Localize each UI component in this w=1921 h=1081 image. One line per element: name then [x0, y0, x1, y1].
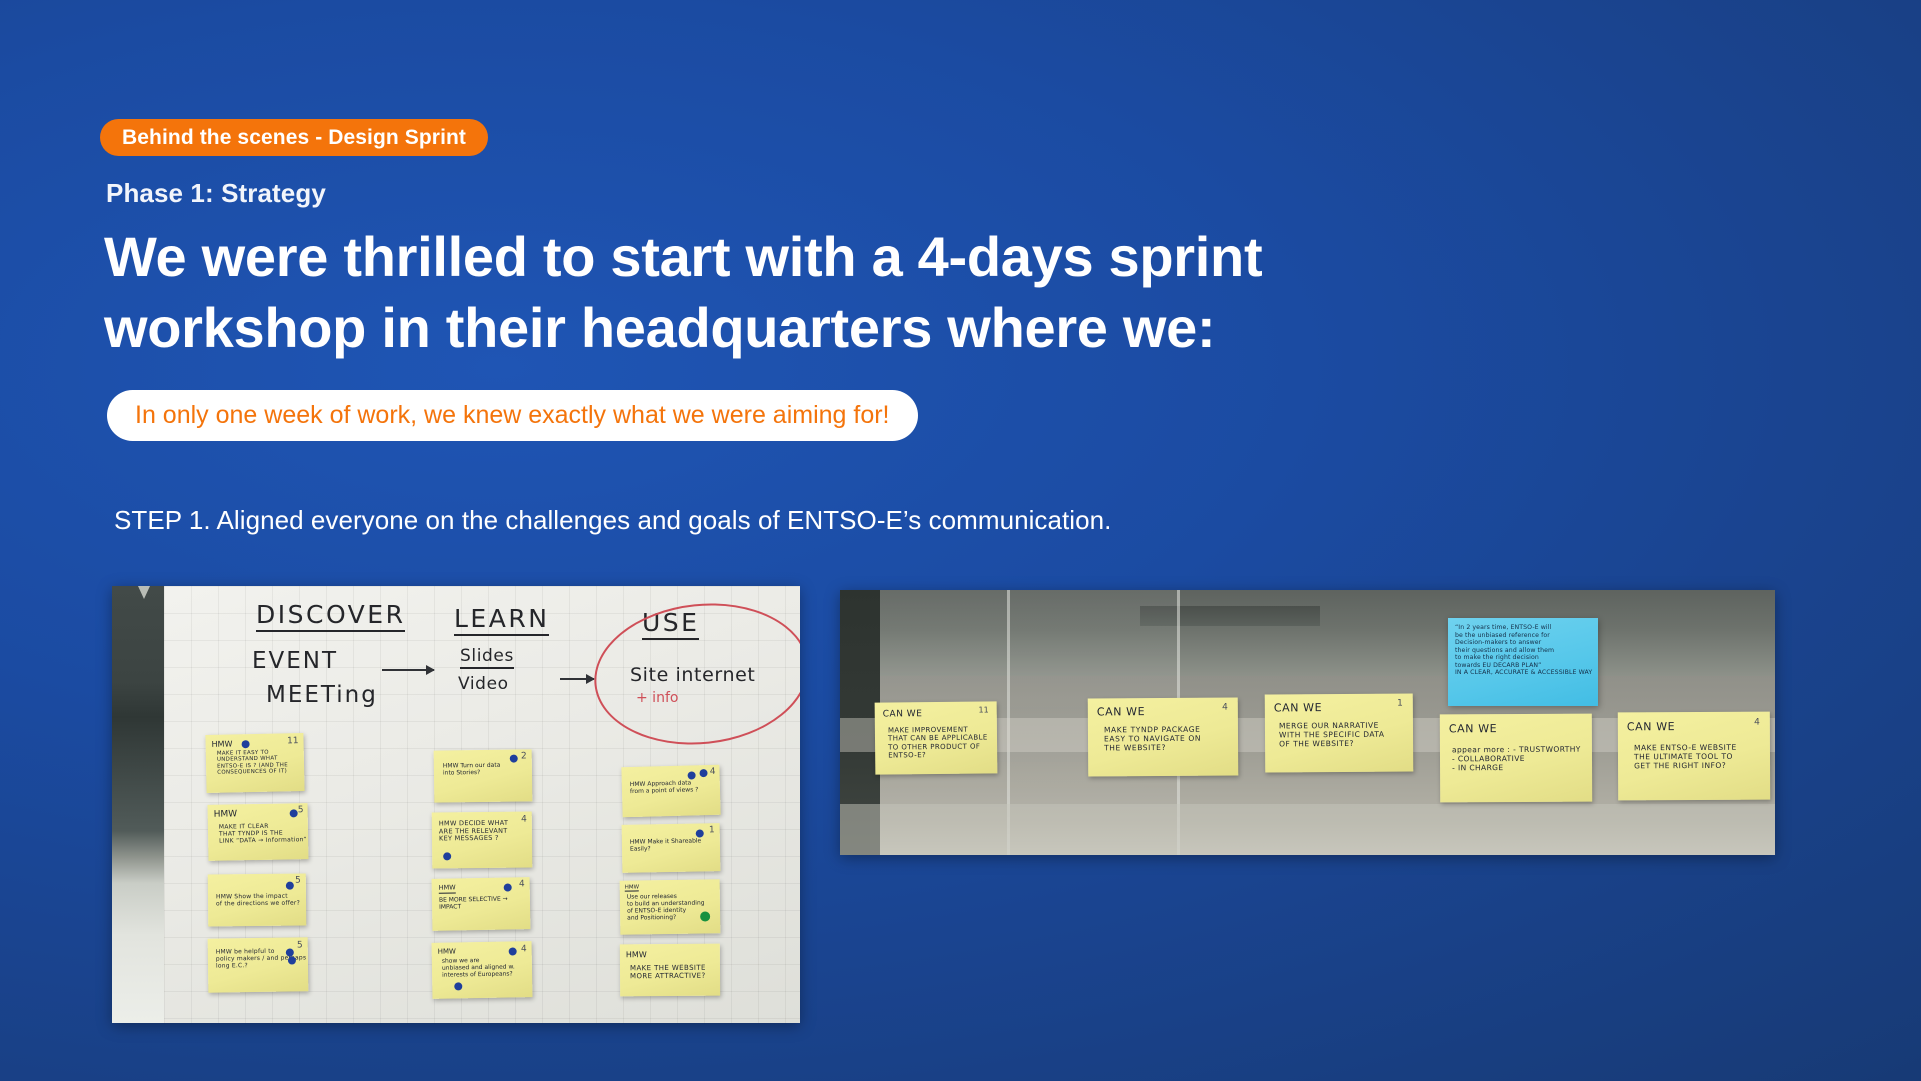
vote-dot [510, 755, 518, 763]
sticky-prefix: CAN WE [1097, 706, 1145, 719]
sticky-note: CAN WE MERGE OUR NARRATIVE WITH THE SPEC… [1265, 693, 1414, 772]
sticky-note: HMW Use our releases to build an underst… [620, 879, 721, 934]
sticky-tick: 4 [521, 944, 527, 954]
sticky-note-blue-vision: “In 2 years time, ENTSO-E will be the un… [1448, 618, 1598, 706]
behind-the-scenes-badge: Behind the scenes - Design Sprint [100, 119, 488, 156]
sticky-tick: 4 [1754, 718, 1760, 728]
vote-dot [242, 740, 250, 748]
sticky-tick: 11 [978, 705, 988, 714]
page-title: We were thrilled to start with a 4-days … [104, 222, 1404, 363]
sticky-note: HMW Show the impact of the directions we… [208, 873, 307, 926]
sticky-prefix: HMW [625, 884, 639, 892]
board-label-slides: Slides [460, 646, 514, 669]
sticky-tick: 4 [521, 815, 527, 825]
whiteboard-surface: DISCOVER LEARN USE EVENT MEETing Slides … [164, 586, 800, 1023]
vote-dot [687, 771, 695, 779]
vote-dot [286, 948, 294, 956]
sticky-body: MAKE TYNDP PACKAGE EASY TO NAVIGATE ON T… [1104, 726, 1201, 753]
sticky-body: “In 2 years time, ENTSO-E will be the un… [1455, 624, 1592, 677]
sticky-note: HMW show we are unbiased and aligned w. … [432, 941, 533, 999]
highlight-pill: In only one week of work, we knew exactl… [107, 390, 918, 441]
sticky-prefix: HMW [626, 950, 647, 960]
sticky-tick: 4 [1222, 703, 1228, 713]
vote-dot [286, 882, 294, 890]
sticky-tick: 1 [1397, 699, 1403, 709]
sticky-tick: 5 [297, 940, 303, 950]
sticky-body: show we are unbiased and aligned w. inte… [442, 956, 515, 979]
arrow-learn-to-use [560, 678, 594, 680]
sticky-body: MAKE IT CLEAR THAT TYNDP IS THE LINK “DA… [219, 822, 307, 845]
sticky-note: HMW MAKE THE WEBSITE MORE ATTRACTIVE? [620, 944, 720, 997]
slide-canvas: Behind the scenes - Design Sprint Phase … [0, 0, 1921, 1081]
vote-dot [288, 956, 296, 964]
sticky-body: MERGE OUR NARRATIVE WITH THE SPECIFIC DA… [1279, 722, 1385, 749]
sticky-tick: 4 [710, 767, 716, 777]
sticky-tick: 5 [298, 805, 304, 815]
vote-dot [443, 852, 451, 860]
sticky-note: CAN WE MAKE IMPROVEMENT THAT CAN BE APPL… [875, 701, 998, 774]
sticky-note: HMW be helpful to policy makers / and pe… [208, 937, 309, 992]
sticky-note: HMW DECIDE WHAT ARE THE RELEVANT KEY MES… [432, 811, 533, 868]
sticky-note: CAN WE MAKE TYNDP PACKAGE EASY TO NAVIGA… [1088, 697, 1239, 776]
sticky-body: HMW DECIDE WHAT ARE THE RELEVANT KEY MES… [439, 820, 509, 844]
sticky-tick: 5 [295, 876, 301, 886]
vote-dot [290, 809, 298, 817]
board-heading-discover: DISCOVER [256, 600, 405, 629]
room-edge [112, 586, 164, 1023]
sticky-prefix: CAN WE [1627, 721, 1675, 734]
sticky-tick: 1 [709, 825, 715, 835]
sticky-body: MAKE IMPROVEMENT THAT CAN BE APPLICABLE … [888, 725, 988, 759]
photo-whiteboard-hmw: DISCOVER LEARN USE EVENT MEETing Slides … [112, 586, 800, 1023]
board-label-video: Video [458, 674, 509, 694]
sticky-note: HMW BE MORE SELECTIVE → IMPACT 4 [432, 877, 531, 931]
sticky-prefix: CAN WE [1274, 702, 1322, 715]
sticky-body: MAKE ENTSO-E WEBSITE THE ULTIMATE TOOL T… [1634, 744, 1737, 771]
vote-dot [699, 769, 707, 777]
sticky-body: Use our releases to build an understandi… [627, 893, 705, 922]
sticky-prefix: CAN WE [1449, 723, 1497, 736]
sticky-tick: 2 [521, 751, 527, 761]
red-circle-annotation [587, 593, 800, 755]
sticky-note: CAN WE MAKE ENTSO-E WEBSITE THE ULTIMATE… [1618, 712, 1770, 801]
step-1-text: STEP 1. Aligned everyone on the challeng… [114, 505, 1111, 536]
board-label-meeting: MEETing [266, 682, 378, 708]
sticky-prefix: HMW [212, 739, 233, 749]
sticky-note: HMW Make it Shareable Easily? 1 [622, 823, 721, 873]
vote-dot-green [700, 911, 710, 921]
board-label-event: EVENT [252, 648, 338, 674]
vote-dot [696, 829, 704, 837]
sticky-body: MAKE IT EASY TO UNDERSTAND WHAT ENTSO-E … [217, 749, 288, 776]
wall-band [840, 804, 1775, 855]
sticky-body: HMW Turn our data into Stories? [443, 762, 501, 777]
sticky-note: HMW Turn our data into Stories? 2 [434, 749, 533, 802]
sticky-body: MAKE THE WEBSITE MORE ATTRACTIVE? [630, 964, 706, 981]
headline-line-2: workshop in their headquarters where we: [104, 293, 1404, 364]
sticky-tick: 11 [287, 736, 299, 746]
board-heading-learn: LEARN [454, 604, 549, 633]
sticky-note: HMW MAKE IT CLEAR THAT TYNDP IS THE LINK… [208, 803, 309, 861]
headline-line-1: We were thrilled to start with a 4-days … [104, 222, 1404, 293]
arrow-discover-to-learn [382, 669, 434, 671]
sticky-prefix: CAN WE [883, 709, 923, 720]
badge-label: Behind the scenes - Design Sprint [122, 126, 466, 150]
sticky-prefix: HMW [438, 947, 456, 956]
vote-dot [504, 883, 512, 891]
sticky-body: appear more : - TRUSTWORTHY - COLLABORAT… [1452, 746, 1581, 773]
sticky-note: HMW Approach data from a point of views … [621, 765, 720, 818]
sticky-tick: 4 [519, 879, 525, 889]
highlight-pill-label: In only one week of work, we knew exactl… [135, 401, 890, 430]
sticky-note: HMW MAKE IT EASY TO UNDERSTAND WHAT ENTS… [205, 733, 304, 793]
vote-dot [509, 947, 517, 955]
phase-label: Phase 1: Strategy [106, 178, 326, 209]
vote-dot [454, 982, 462, 990]
sticky-body: HMW Show the impact of the directions we… [216, 893, 300, 908]
sticky-prefix: HMW [439, 884, 456, 893]
sticky-note: CAN WE appear more : - TRUSTWORTHY - COL… [1440, 714, 1592, 803]
sticky-body: BE MORE SELECTIVE → IMPACT [439, 896, 508, 911]
photo-glass-wall-can-we: “In 2 years time, ENTSO-E will be the un… [840, 590, 1775, 855]
sticky-prefix: HMW [214, 809, 238, 820]
sticky-body: HMW Approach data from a point of views … [630, 779, 699, 795]
sticky-body: HMW Make it Shareable Easily? [630, 837, 702, 852]
